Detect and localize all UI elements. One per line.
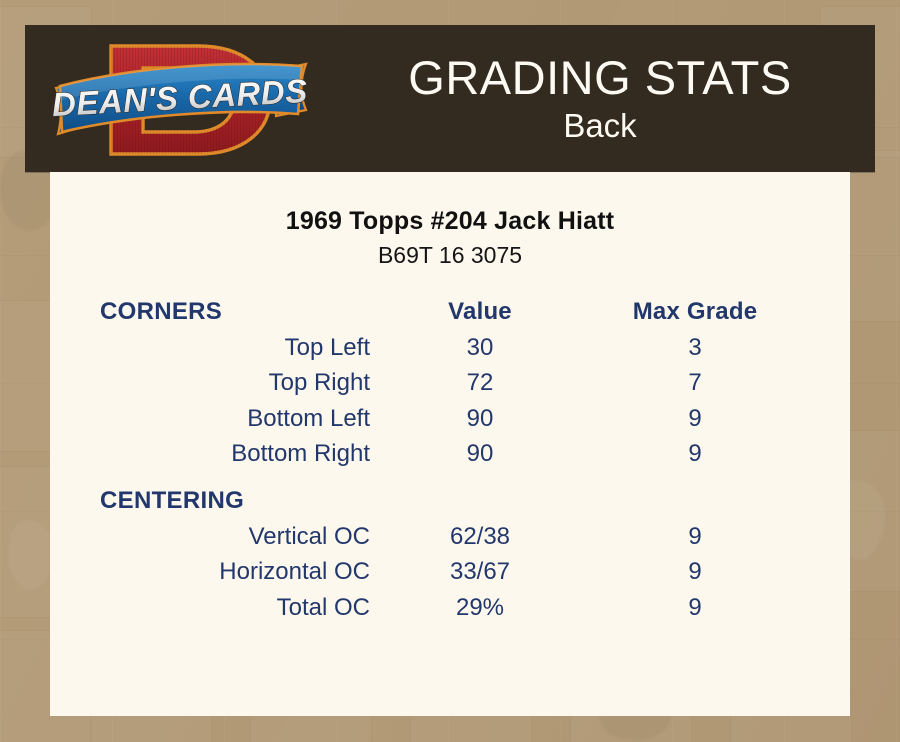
row-value: 90 xyxy=(370,436,590,471)
row-value: 33/67 xyxy=(370,554,590,589)
row-value: 29% xyxy=(370,590,590,625)
row-label: Total OC xyxy=(100,590,370,625)
table-row: Top Left303 xyxy=(100,330,800,365)
page-title: GRADING STATS xyxy=(408,54,791,103)
row-max-grade: 9 xyxy=(590,554,800,589)
card-code: B69T 16 3075 xyxy=(50,241,850,271)
row-max-grade: 9 xyxy=(590,436,800,471)
row-label: Horizontal OC xyxy=(100,554,370,589)
card-name: 1969 Topps #204 Jack Hiatt xyxy=(50,206,850,237)
row-max-grade: 9 xyxy=(590,401,800,436)
row-label: Top Right xyxy=(100,365,370,400)
page-subtitle: Back xyxy=(563,105,636,146)
table-spacer-row xyxy=(100,471,800,487)
table-row: Vertical OC62/389 xyxy=(100,519,800,554)
table-row: Bottom Right909 xyxy=(100,436,800,471)
section-header-row: CENTERING xyxy=(100,487,800,519)
grading-stats-table: CORNERSValueMax GradeTop Left303Top Righ… xyxy=(100,298,800,625)
grading-stats: CORNERSValueMax GradeTop Left303Top Righ… xyxy=(100,271,800,625)
grading-stats-body: CORNERSValueMax GradeTop Left303Top Righ… xyxy=(100,298,800,625)
column-header-value: Value xyxy=(370,298,590,330)
section-title-centering: CENTERING xyxy=(100,487,370,519)
column-header-value xyxy=(370,487,590,519)
column-header-max-grade: Max Grade xyxy=(590,298,800,330)
content-panel: 1969 Topps #204 Jack Hiatt B69T 16 3075 … xyxy=(50,172,850,716)
row-value: 62/38 xyxy=(370,519,590,554)
row-max-grade: 9 xyxy=(590,590,800,625)
row-value: 72 xyxy=(370,365,590,400)
section-title-corners: CORNERS xyxy=(100,298,370,330)
row-value: 30 xyxy=(370,330,590,365)
table-row: Top Right727 xyxy=(100,365,800,400)
header-band: DEAN'S CARDS GRADING STATS Back xyxy=(25,25,875,172)
row-value: 90 xyxy=(370,401,590,436)
row-label: Bottom Right xyxy=(100,436,370,471)
row-max-grade: 7 xyxy=(590,365,800,400)
table-row: Horizontal OC33/679 xyxy=(100,554,800,589)
table-row: Total OC29%9 xyxy=(100,590,800,625)
row-label: Vertical OC xyxy=(100,519,370,554)
card-title-block: 1969 Topps #204 Jack Hiatt B69T 16 3075 xyxy=(50,172,850,271)
row-label: Bottom Left xyxy=(100,401,370,436)
table-row: Bottom Left909 xyxy=(100,401,800,436)
row-max-grade: 3 xyxy=(590,330,800,365)
column-header-max-grade xyxy=(590,487,800,519)
section-header-row: CORNERSValueMax Grade xyxy=(100,298,800,330)
row-label: Top Left xyxy=(100,330,370,365)
row-max-grade: 9 xyxy=(590,519,800,554)
table-spacer-cell xyxy=(100,471,800,487)
deans-cards-logo[interactable]: DEAN'S CARDS xyxy=(48,30,313,170)
header-title-group: GRADING STATS Back xyxy=(325,25,875,172)
